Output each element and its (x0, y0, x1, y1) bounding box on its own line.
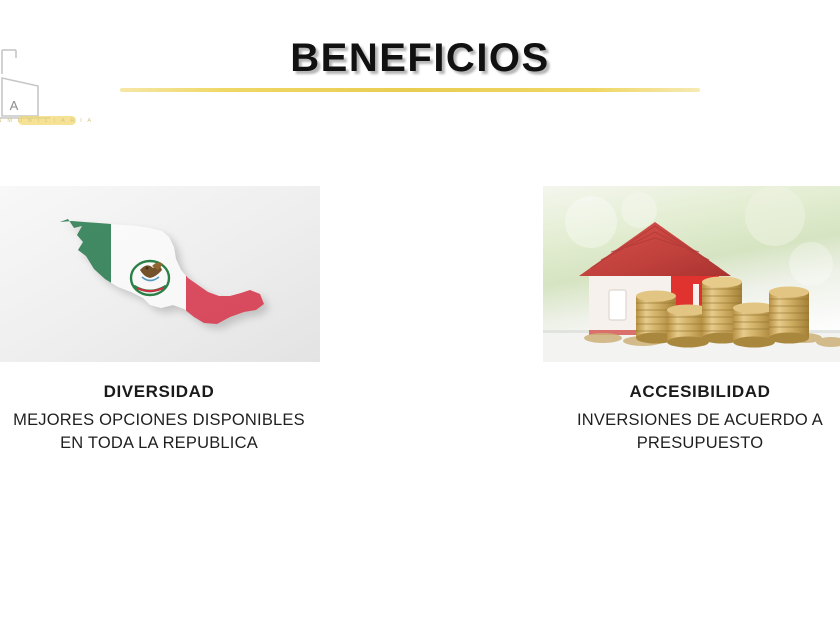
slide-canvas: V A I N M O B I L I A R I A BENEFICIOS (0, 0, 840, 630)
title-underline-rule (120, 88, 700, 92)
logo-tagline: I N M O B I L I A R I A (0, 118, 93, 124)
benefit-body-line-1: INVERSIONES DE ACUERDO A (535, 409, 840, 432)
mexico-map-flag-photo (0, 186, 320, 362)
benefit-column-accesibilidad: ACCESIBILIDAD INVERSIONES DE ACUERDO A P… (543, 186, 840, 455)
logo-monogram: V A (0, 98, 22, 113)
benefit-caption-accesibilidad: ACCESIBILIDAD INVERSIONES DE ACUERDO A P… (535, 382, 840, 455)
benefit-caption-diversidad: DIVERSIDAD MEJORES OPCIONES DISPONIBLES … (0, 382, 358, 455)
benefit-body-line-2: EN TODA LA REPUBLICA (0, 432, 358, 455)
benefit-heading: DIVERSIDAD (0, 382, 358, 402)
benefit-body-line-1: MEJORES OPCIONES DISPONIBLES (0, 409, 358, 432)
benefit-body-line-2: PRESUPUESTO (535, 432, 840, 455)
house-and-coins-photo (543, 186, 840, 362)
benefit-heading: ACCESIBILIDAD (535, 382, 840, 402)
benefit-column-diversidad: DIVERSIDAD MEJORES OPCIONES DISPONIBLES … (0, 186, 320, 455)
page-title: BENEFICIOS (0, 36, 840, 81)
